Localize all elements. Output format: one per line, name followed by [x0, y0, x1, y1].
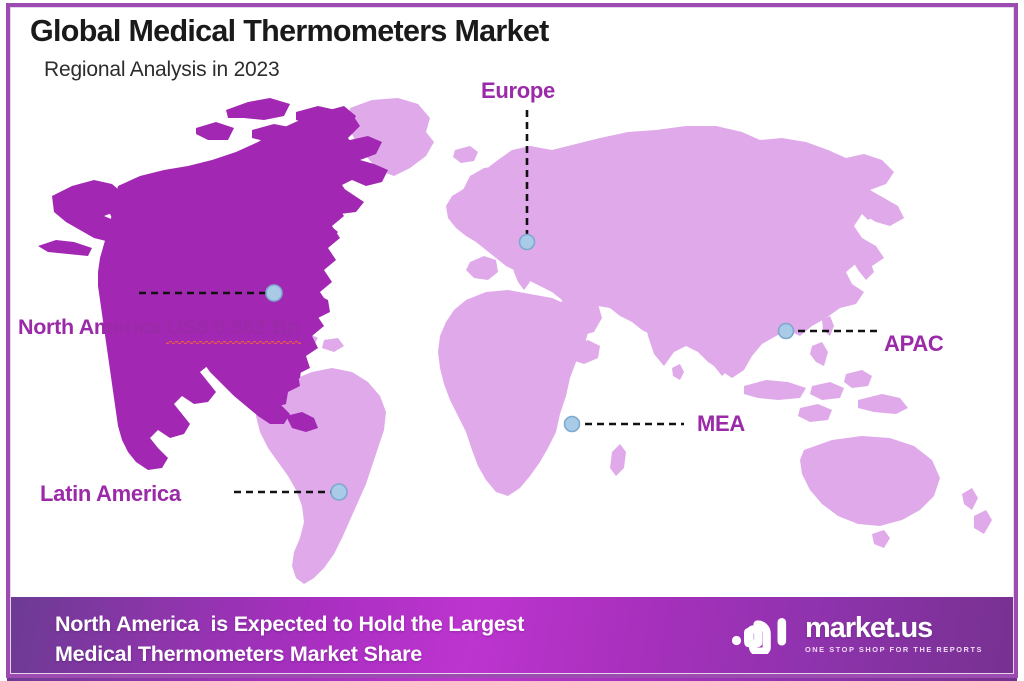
logo-tagline: ONE STOP SHOP FOR THE REPORTS	[805, 645, 983, 654]
region-label-north-america: North America	[18, 315, 161, 339]
marker-latin-america[interactable]	[331, 484, 347, 500]
region-label-latin-america: Latin America	[40, 481, 181, 507]
marker-apac[interactable]	[779, 324, 794, 339]
market-us-logo-mark	[731, 614, 793, 654]
logo-brand-name: market.us	[805, 613, 983, 643]
footer-headline: North America is Expected to Hold the La…	[55, 609, 524, 669]
page-subtitle: Regional Analysis in 2023	[44, 58, 280, 82]
region-callout-north-america: North America US$ 0.862 Bn	[18, 314, 204, 341]
region-label-mea: MEA	[697, 411, 745, 437]
footer-banner: North America is Expected to Hold the La…	[7, 597, 1017, 681]
region-label-apac: APAC	[884, 331, 944, 357]
marker-mea[interactable]	[565, 417, 580, 432]
marker-europe[interactable]	[520, 235, 535, 250]
page-title: Global Medical Thermometers Market	[30, 14, 549, 49]
market-us-logo-text: market.us ONE STOP SHOP FOR THE REPORTS	[805, 613, 983, 654]
marker-north-america[interactable]	[266, 285, 282, 301]
region-label-europe: Europe	[481, 78, 555, 104]
region-value-north-america: US$ 0.862 Bn	[167, 314, 300, 341]
market-us-logo[interactable]: market.us ONE STOP SHOP FOR THE REPORTS	[731, 613, 983, 654]
infographic-canvas: Global Medical Thermometers Market Regio…	[0, 0, 1024, 681]
